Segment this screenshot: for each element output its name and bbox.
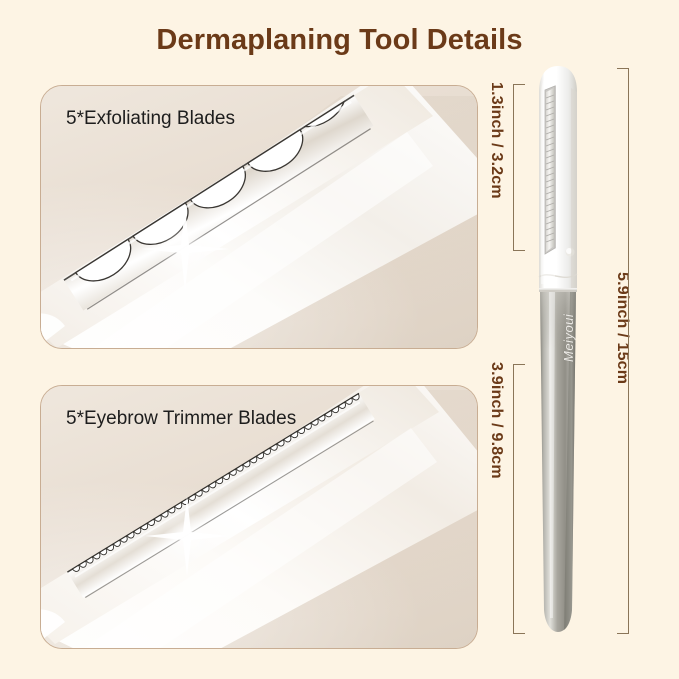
measurement-bracket-total-length	[617, 68, 629, 634]
product-brand-text: Meiyoui	[561, 314, 576, 362]
detail-card-trimmer: 5*Eyebrow Trimmer Blades	[40, 385, 478, 649]
measurement-bracket-handle-length	[513, 364, 525, 634]
detail-card-exfoliating: 5*Exfoliating Blades	[40, 85, 478, 349]
card-label-exfoliating: 5*Exfoliating Blades	[66, 108, 235, 130]
infographic-page: Dermaplaning Tool Details	[0, 0, 679, 679]
measurement-bracket-blade-length	[513, 84, 525, 251]
pen-head	[539, 66, 577, 290]
card-label-trimmer: 5*Eyebrow Trimmer Blades	[66, 408, 296, 430]
measurement-label-handle-length: 3.9inch / 9.8cm	[487, 362, 505, 479]
measurement-label-blade-length: 1.3inch / 3.2cm	[487, 82, 505, 199]
product-dermaplaning-pen: Meiyoui	[525, 62, 593, 642]
page-title: Dermaplaning Tool Details	[0, 24, 679, 57]
